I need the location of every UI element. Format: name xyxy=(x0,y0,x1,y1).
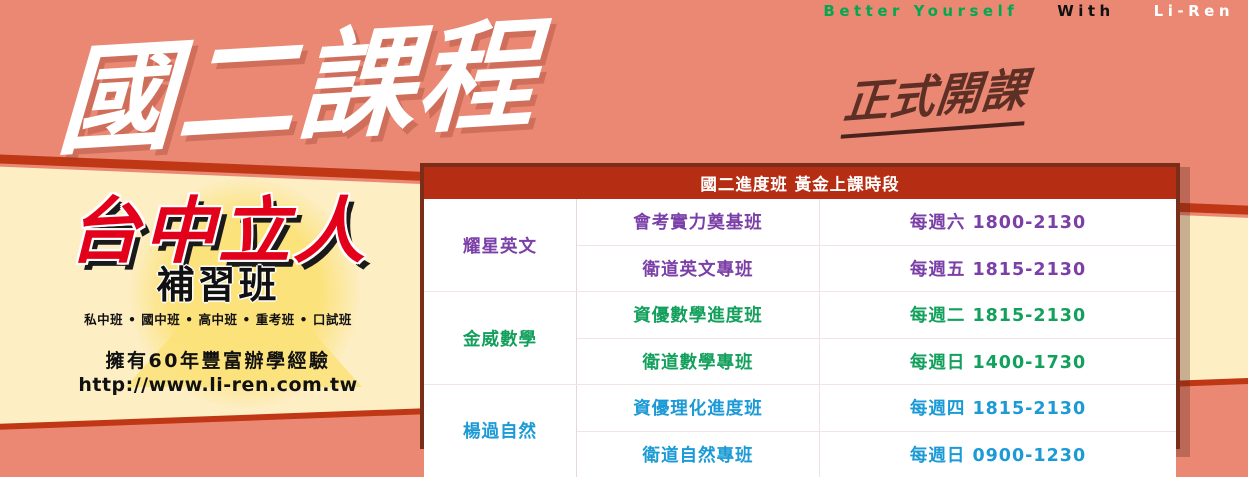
course-name-cell: 會考實力奠基班 xyxy=(577,199,820,245)
subject-cell: 耀星英文 xyxy=(424,199,577,292)
schedule-grid: 耀星英文會考實力奠基班每週六 1800-2130衛道英文專班每週五 1815-2… xyxy=(424,199,1176,477)
logo-experience-text: 擁有60年豐富辦學經驗 xyxy=(28,346,408,373)
schedule-table-header: 國二進度班 黃金上課時段 xyxy=(424,167,1176,199)
course-time-cell: 每週日 0900-1230 xyxy=(820,431,1177,477)
course-time-cell: 每週五 1815-2130 xyxy=(820,245,1177,292)
course-name-cell: 衛道英文專班 xyxy=(577,245,820,292)
course-time-cell: 每週二 1815-2130 xyxy=(820,292,1177,339)
table-row: 楊過自然資優理化進度班每週四 1815-2130 xyxy=(424,385,1176,432)
title-subheading: 正式開課 xyxy=(841,53,1032,139)
course-time-cell: 每週四 1815-2130 xyxy=(820,385,1177,432)
logo-website-url[interactable]: http://www.li-ren.com.tw xyxy=(28,374,408,396)
tagline-part-3: Li-Ren xyxy=(1154,2,1234,20)
tagline-part-2: With xyxy=(1057,2,1115,20)
table-row: 耀星英文會考實力奠基班每週六 1800-2130 xyxy=(424,199,1176,245)
logo-school-name: 台中立人 xyxy=(28,196,408,267)
table-row: 金威數學資優數學進度班每週二 1815-2130 xyxy=(424,292,1176,339)
course-promo-banner: Better Yourself With Li-Ren 國二課程 正式開課 台中… xyxy=(0,0,1248,477)
course-name-cell: 衛道自然專班 xyxy=(577,431,820,477)
subject-cell: 楊過自然 xyxy=(424,385,577,477)
course-name-cell: 衛道數學專班 xyxy=(577,338,820,385)
course-name-cell: 資優數學進度班 xyxy=(577,292,820,339)
tagline-part-1: Better Yourself xyxy=(823,2,1018,20)
page-title: 國二課程 xyxy=(54,0,541,178)
school-logo: 台中立人 補習班 私中班 • 國中班 • 高中班 • 重考班 • 口試班 擁有6… xyxy=(28,196,408,396)
tagline: Better Yourself With Li-Ren xyxy=(823,2,1234,20)
schedule-table: 國二進度班 黃金上課時段 耀星英文會考實力奠基班每週六 1800-2130衛道英… xyxy=(420,163,1180,449)
logo-class-list: 私中班 • 國中班 • 高中班 • 重考班 • 口試班 xyxy=(28,309,408,328)
course-time-cell: 每週日 1400-1730 xyxy=(820,338,1177,385)
course-name-cell: 資優理化進度班 xyxy=(577,385,820,432)
course-time-cell: 每週六 1800-2130 xyxy=(820,199,1177,245)
subject-cell: 金威數學 xyxy=(424,292,577,385)
